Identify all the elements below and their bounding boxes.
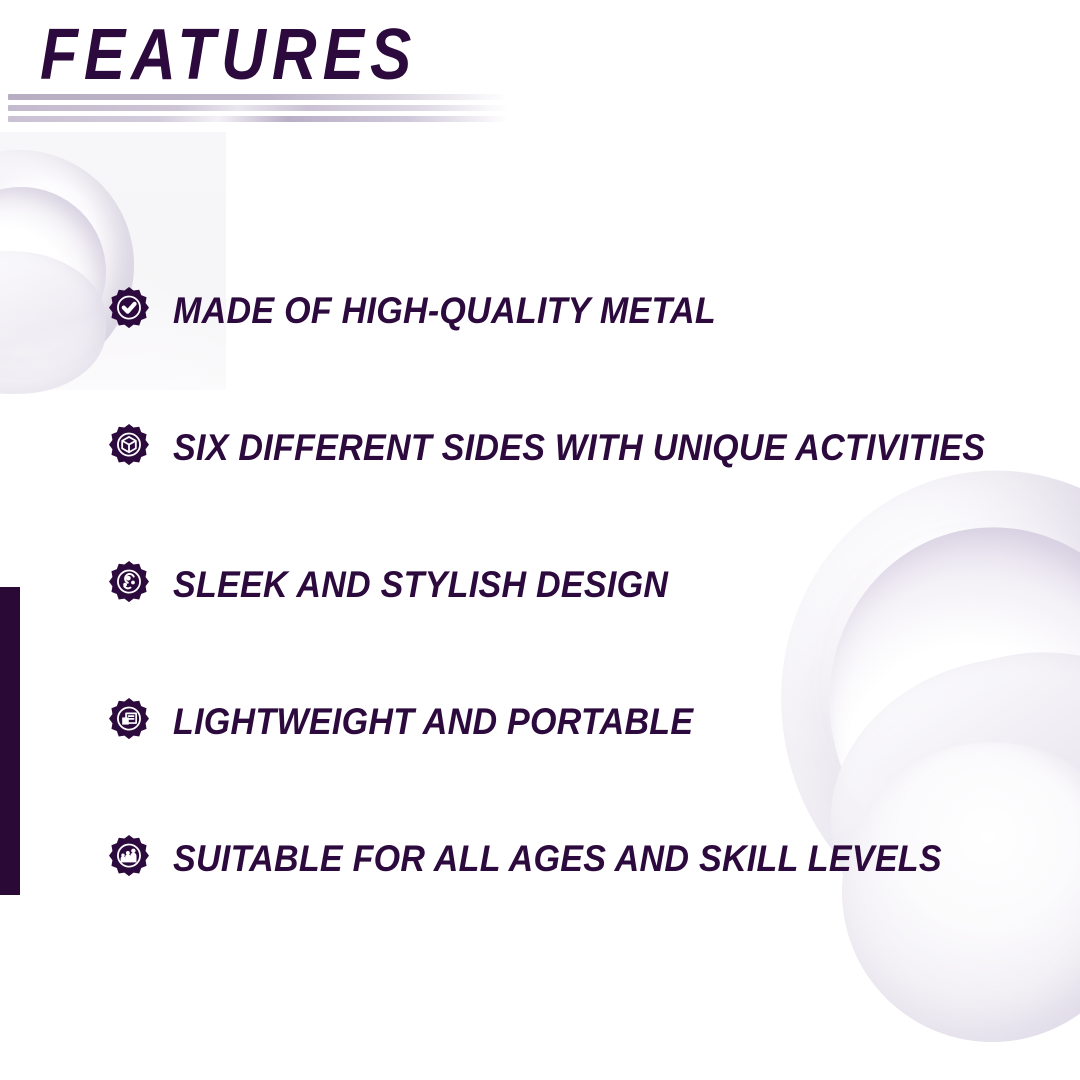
feature-item-4: LIGHTWEIGHT AND PORTABLE [103, 692, 983, 752]
badge-package-icon [103, 696, 155, 748]
feature-label-2: SIX DIFFERENT SIDES WITH UNIQUE ACTIVITI… [173, 427, 985, 469]
badge-people-icon [103, 833, 155, 885]
feature-item-3: SLEEK AND STYLISH DESIGN [103, 555, 983, 615]
left-accent-bar [0, 587, 20, 895]
title-rule-3 [8, 116, 508, 122]
title-underline-rules [8, 94, 528, 127]
feature-item-5: SUITABLE FOR ALL AGES AND SKILL LEVELS [103, 829, 983, 889]
feature-item-2: SIX DIFFERENT SIDES WITH UNIQUE ACTIVITI… [103, 418, 983, 478]
features-poster: FEATURES MADE OF HIGH-QUALITY METAL SIX [0, 0, 1080, 1080]
feature-item-1: MADE OF HIGH-QUALITY METAL [103, 281, 983, 341]
header: FEATURES [40, 20, 600, 91]
feature-label-4: LIGHTWEIGHT AND PORTABLE [173, 701, 693, 743]
feature-label-3: SLEEK AND STYLISH DESIGN [173, 564, 668, 606]
feature-label-5: SUITABLE FOR ALL AGES AND SKILL LEVELS [173, 838, 942, 880]
feature-label-1: MADE OF HIGH-QUALITY METAL [173, 290, 716, 332]
title-rule-1 [8, 94, 508, 100]
features-list: MADE OF HIGH-QUALITY METAL SIX DIFFERENT… [103, 281, 983, 889]
page-title: FEATURES [40, 20, 522, 91]
badge-cube-icon [103, 422, 155, 474]
badge-design-icon [103, 559, 155, 611]
title-rule-2 [8, 105, 508, 111]
badge-check-icon [103, 285, 155, 337]
